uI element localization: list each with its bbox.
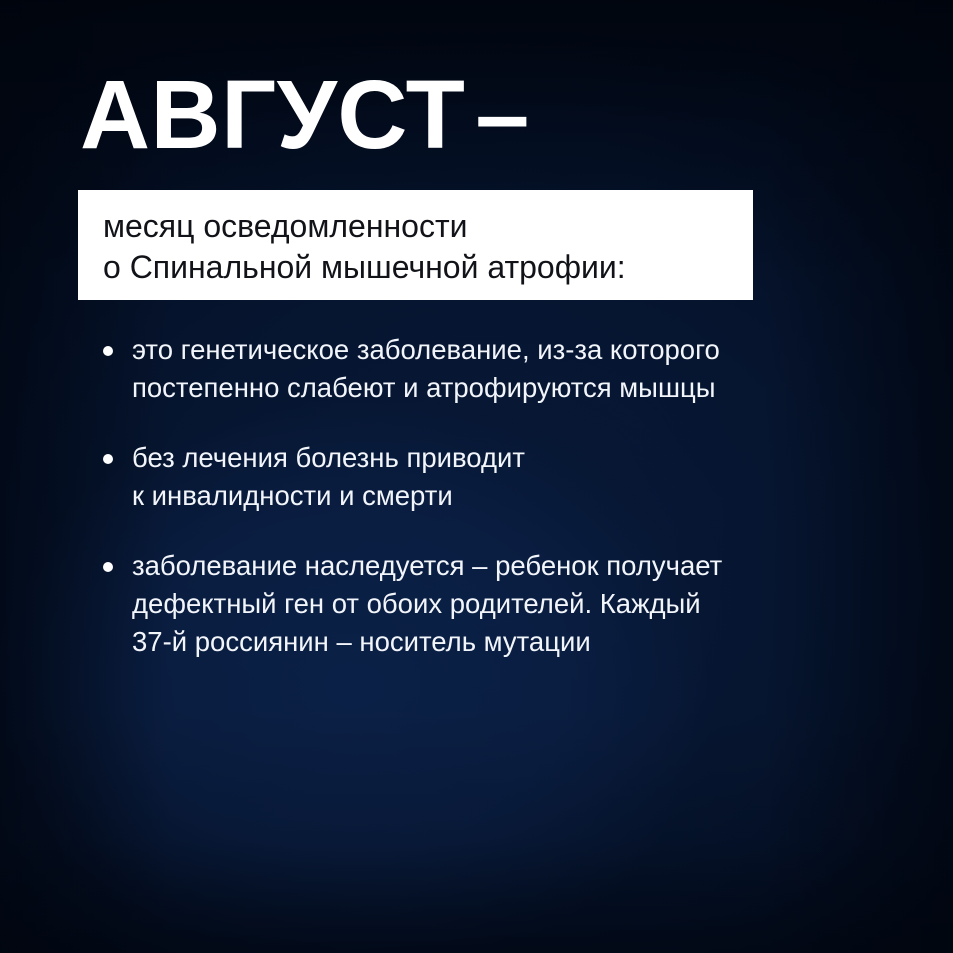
list-item: заболевание наследуется – ребенок получа… [100,547,900,661]
fact-list: это генетическое заболевание, из-за кото… [100,331,900,693]
list-item-line: заболевание наследуется – ребенок получа… [132,547,900,585]
list-item-line: без лечения болезнь приводит [132,439,900,477]
infographic-poster: АВГУСТ– месяц осведомленности о Спинальн… [0,0,953,953]
bullet-dot-icon [103,562,113,572]
bullet-dot-icon [103,346,113,356]
list-item-line: дефектный ген от обоих родителей. Каждый [132,585,900,623]
list-item-line: это генетическое заболевание, из-за кото… [132,331,900,369]
headline-word: АВГУСТ [80,60,465,169]
subtitle-line-2: о Спинальной мышечной атрофии: [103,247,733,288]
subtitle-highlight-box: месяц осведомленности о Спинальной мышеч… [78,190,753,300]
bullet-dot-icon [103,454,113,464]
list-item: без лечения болезнь приводит к инвалидно… [100,439,900,515]
headline-dash: – [465,60,529,169]
list-item-line: к инвалидности и смерти [132,477,900,515]
poster-content: АВГУСТ– месяц осведомленности о Спинальн… [0,0,953,953]
page-title: АВГУСТ– [80,62,530,167]
list-item: это генетическое заболевание, из-за кото… [100,331,900,407]
subtitle-line-1: месяц осведомленности [103,206,733,247]
list-item-line: 37-й россиянин – носитель мутации [132,623,900,661]
list-item-line: постепенно слабеют и атрофируются мышцы [132,369,900,407]
